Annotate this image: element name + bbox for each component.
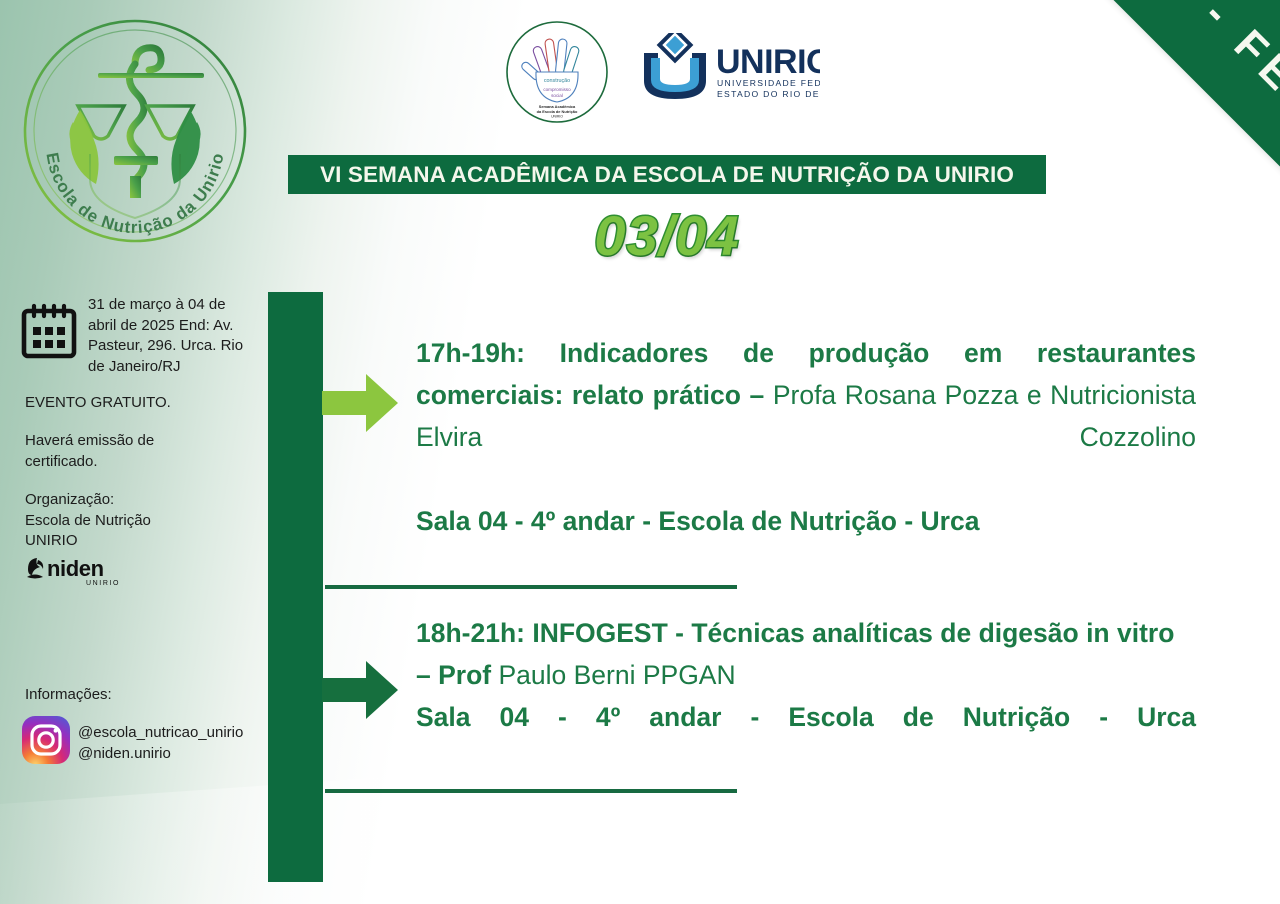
event-1-venue: Sala 04 - 4º andar - Escola de Nutrição … bbox=[416, 500, 1196, 542]
calendar-icon bbox=[20, 302, 78, 360]
event-item-2: 18h-21h: INFOGEST - Técnicas analíticas … bbox=[416, 612, 1196, 780]
certificate-note: Haverá emissão de certificado. bbox=[25, 431, 215, 472]
event-divider-2 bbox=[325, 789, 737, 793]
unirio-subtitle-2: ESTADO DO RIO DE JANEIRO bbox=[717, 89, 820, 99]
event-2-speakers: Paulo Berni PPGAN bbox=[491, 660, 736, 690]
organization-note: Organização: Escola de Nutrição UNIRIO bbox=[25, 490, 225, 552]
event-title-banner: VI SEMANA ACADÊMICA DA ESCOLA DE NUTRIÇÃ… bbox=[288, 155, 1046, 194]
unirio-subtitle-1: UNIVERSIDADE FEDERAL DO bbox=[717, 78, 820, 88]
event-1-description: 17h-19h: Indicadores de produção em rest… bbox=[416, 332, 1196, 500]
event-2-description: 18h-21h: INFOGEST - Técnicas analíticas … bbox=[416, 612, 1196, 696]
svg-text:compromisso: compromisso bbox=[543, 87, 571, 92]
date-headline: 03/04 bbox=[288, 203, 1046, 268]
instagram-icon[interactable] bbox=[22, 716, 70, 764]
niden-wordmark: niden bbox=[47, 556, 104, 581]
unirio-logo: UNIRIO UNIVERSIDADE FEDERAL DO ESTADO DO… bbox=[620, 33, 820, 105]
svg-text:social: social bbox=[551, 93, 563, 98]
contact-label: Informações: bbox=[25, 686, 112, 703]
niden-subtitle: UNIRIO bbox=[86, 580, 120, 587]
event-item-1: 17h-19h: Indicadores de produção em rest… bbox=[416, 332, 1196, 542]
event-2-venue: Sala 04 - 4º andar - Escola de Nutrição … bbox=[416, 696, 1196, 780]
unirio-wordmark: UNIRIO bbox=[716, 43, 820, 81]
svg-text:construção: construção bbox=[544, 78, 570, 84]
event-divider-1 bbox=[325, 585, 737, 589]
svg-text:UNIRIO: UNIRIO bbox=[551, 115, 563, 119]
event-title-text: VI SEMANA ACADÊMICA DA ESCOLA DE NUTRIÇÃ… bbox=[320, 162, 1014, 188]
event-arrow-1-icon bbox=[322, 372, 398, 434]
free-event-note: EVENTO GRATUITO. bbox=[25, 394, 171, 411]
event-poster: Escola de Nutrição da Unirio construção … bbox=[0, 0, 1280, 904]
event-date-address: 31 de março à 04 de abril de 2025 End: A… bbox=[88, 295, 258, 377]
escola-nutricao-seal-logo: Escola de Nutrição da Unirio bbox=[18, 14, 252, 248]
semana-academica-logo: construção compromisso social Semana Aca… bbox=[505, 20, 609, 124]
instagram-handles[interactable]: @escola_nutricao_unirio @niden.unirio bbox=[78, 722, 243, 764]
niden-logo: niden UNIRIO bbox=[24, 553, 146, 589]
event-arrow-2-icon bbox=[322, 659, 398, 721]
timeline-vertical-bar bbox=[268, 292, 323, 882]
svg-text:da Escola de Nutrição: da Escola de Nutrição bbox=[537, 109, 578, 114]
